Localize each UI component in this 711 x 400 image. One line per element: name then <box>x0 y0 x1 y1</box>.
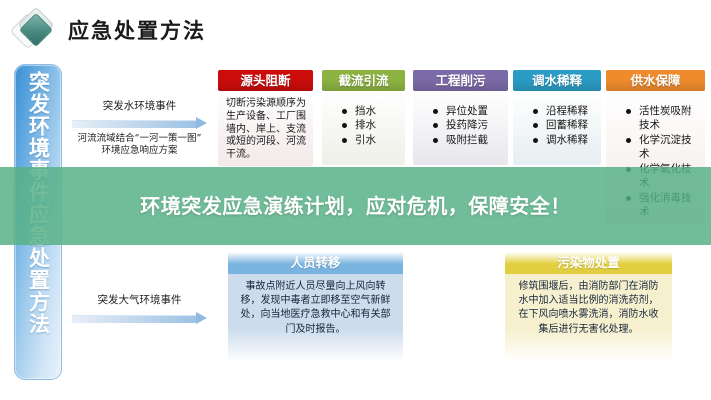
card-water-dilution-body: 沿程稀释 回蓄稀释 调水稀释 <box>513 91 601 165</box>
list-item: 引水 <box>342 133 399 147</box>
list-item: 异位处置 <box>433 104 502 118</box>
list-item: 沿程稀释 <box>533 104 595 118</box>
flow-water-label: 突发水环境事件 <box>72 98 207 113</box>
overlay-banner: 环境突发应急演练计划，应对危机，保障安全！ <box>0 167 711 245</box>
card-source-blocking[interactable]: 源头阻断 切断污染源顺序为生产设备、工厂围墙内、岸上、支流或短的河段、河流干流。 <box>218 70 313 166</box>
list-item: 回蓄稀释 <box>533 118 595 132</box>
list-item: 活性炭吸附技术 <box>626 104 699 133</box>
card-engineering-pollution-reduction-list: 异位处置 投药降污 吸附拦截 <box>421 104 502 147</box>
card-water-dilution-list: 沿程稀释 回蓄稀释 调水稀释 <box>521 104 595 147</box>
card-personnel-transfer[interactable]: 人员转移 事故点附近人员尽量向上风向转移，发现中毒者立即移至空气新鲜处，向当地医… <box>228 252 403 362</box>
card-pollutant-disposal-body: 修筑围堰后，由消防部门在消防水中加入适当比例的消洗药剂，在下风向喷水雾洗消，消防… <box>505 274 672 345</box>
card-personnel-transfer-title: 人员转移 <box>228 252 403 274</box>
list-item: 化学沉淀技术 <box>626 133 699 162</box>
card-source-blocking-title: 源头阻断 <box>218 70 313 91</box>
card-personnel-transfer-body: 事故点附近人员尽量向上风向转移，发现中毒者立即移至空气新鲜处，向当地医疗急救中心… <box>228 274 403 345</box>
flow-water-sub-line1: 河流流域结合“一河一策一图” <box>72 133 207 145</box>
card-pollutant-disposal[interactable]: 污染物处置 修筑围堰后，由消防部门在消防水中加入适当比例的消洗药剂，在下风向喷水… <box>505 252 672 362</box>
slide-canvas: 应急处置方法 突发环境事件应急处置方法 突发水环境事件 河流流域结合“一河一策一… <box>0 0 711 400</box>
card-source-blocking-paragraph: 切断污染源顺序为生产设备、工厂围墙内、岸上、支流或短的河段、河流干流。 <box>226 98 307 162</box>
flow-air-event: 突发大气环境事件 <box>72 292 207 325</box>
flow-water-arrow-icon <box>72 117 207 130</box>
card-source-blocking-body: 切断污染源顺序为生产设备、工厂围墙内、岸上、支流或短的河段、河流干流。 <box>218 91 313 166</box>
card-water-supply-guarantee-title: 供水保障 <box>606 70 705 91</box>
card-interception-diversion-body: 挡水 排水 引水 <box>322 91 405 165</box>
card-interception-diversion[interactable]: 截流引流 挡水 排水 引水 <box>322 70 405 165</box>
card-interception-diversion-title: 截流引流 <box>322 70 405 91</box>
card-water-dilution[interactable]: 调水稀释 沿程稀释 回蓄稀释 调水稀释 <box>513 70 601 165</box>
flow-air-label: 突发大气环境事件 <box>72 292 207 307</box>
card-water-dilution-title: 调水稀释 <box>513 70 601 91</box>
list-item: 挡水 <box>342 104 399 118</box>
list-item: 投药降污 <box>433 118 502 132</box>
page-title: 应急处置方法 <box>68 15 206 45</box>
diamond-logo-icon <box>14 10 56 50</box>
card-pollutant-disposal-title: 污染物处置 <box>505 252 672 274</box>
flow-water-sub-line2: 环境应急响应方案 <box>72 145 207 157</box>
flow-air-arrow-icon <box>72 312 207 325</box>
list-item: 调水稀释 <box>533 133 595 147</box>
list-item: 排水 <box>342 118 399 132</box>
flow-water-event: 突发水环境事件 河流流域结合“一河一策一图” 环境应急响应方案 <box>72 98 207 157</box>
card-interception-diversion-list: 挡水 排水 引水 <box>330 104 399 147</box>
list-item: 吸附拦截 <box>433 133 502 147</box>
card-engineering-pollution-reduction-body: 异位处置 投药降污 吸附拦截 <box>413 91 508 165</box>
slide-header: 应急处置方法 <box>14 10 206 50</box>
card-engineering-pollution-reduction[interactable]: 工程削污 异位处置 投药降污 吸附拦截 <box>413 70 508 165</box>
overlay-banner-text: 环境突发应急演练计划，应对危机，保障安全！ <box>140 192 571 221</box>
card-engineering-pollution-reduction-title: 工程削污 <box>413 70 508 91</box>
